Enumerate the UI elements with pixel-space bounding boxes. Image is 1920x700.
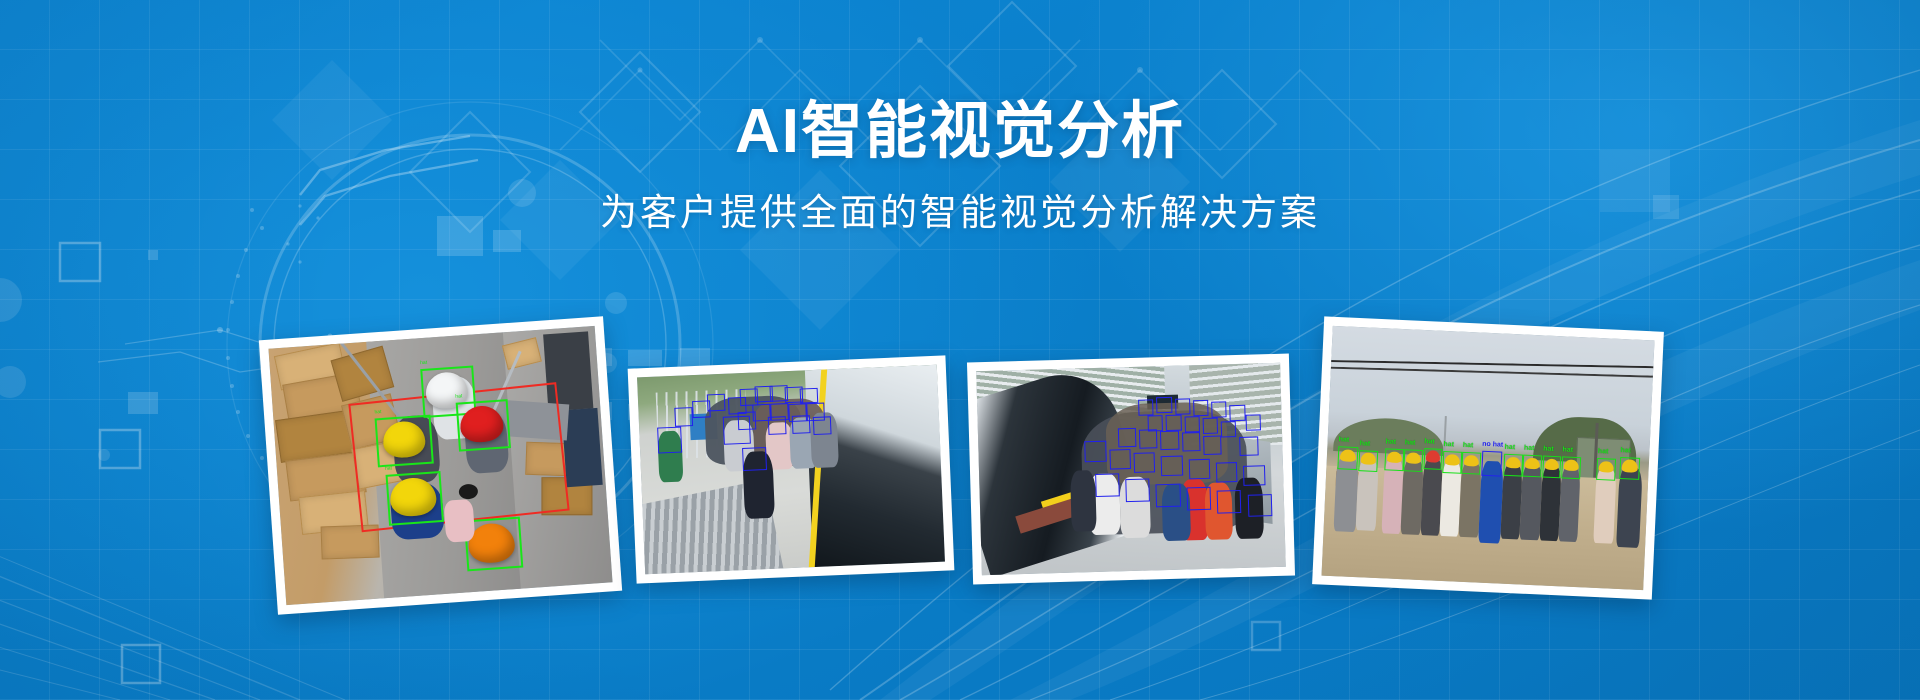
- scene-station: [976, 363, 1286, 575]
- face-box: [1109, 449, 1131, 470]
- face-box: [1156, 484, 1181, 507]
- detection-box: [375, 415, 434, 468]
- scene-platform: [637, 365, 945, 574]
- hat-label: hat: [1562, 446, 1573, 454]
- hat-box: [1384, 448, 1404, 470]
- hat-box: [1503, 454, 1523, 476]
- hat-label: hat: [1598, 448, 1609, 456]
- face-box: [1166, 415, 1182, 432]
- scene-worksite: hat hat hat hat hat: [1321, 326, 1654, 590]
- face-box: [1085, 441, 1107, 462]
- hat-label: hat: [1443, 441, 1454, 449]
- banner-headings: AI智能视觉分析 为客户提供全面的智能视觉分析解决方案: [0, 96, 1920, 236]
- face-box: [1230, 405, 1246, 422]
- face-box: [1211, 401, 1227, 418]
- hat-box: [1442, 451, 1462, 473]
- hat-box: [1423, 448, 1443, 470]
- detection-box: [456, 399, 512, 451]
- face-box: [1193, 399, 1209, 416]
- hat-box: [1597, 458, 1617, 480]
- face-box: [674, 407, 693, 427]
- face-box: [1125, 479, 1150, 502]
- hat-label: hat: [1463, 442, 1474, 450]
- face-box: [1184, 416, 1200, 433]
- hat-label: hat: [1504, 444, 1515, 452]
- face-box: [1134, 452, 1156, 473]
- face-box: [1203, 418, 1219, 435]
- showcase-gallery: hat hat hat hat: [0, 318, 1920, 618]
- hat-label: hat: [1405, 439, 1416, 447]
- gallery-card-station-dense-crowd-detection[interactable]: [967, 354, 1295, 585]
- face-box: [1240, 437, 1259, 456]
- hero-banner: AI智能视觉分析 为客户提供全面的智能视觉分析解决方案: [0, 0, 1920, 700]
- hat-label: hat: [1360, 440, 1371, 448]
- hat-box: [1462, 452, 1482, 474]
- face-box: [1221, 421, 1237, 438]
- hat-label: hat: [1338, 436, 1349, 444]
- photo-station-dense-crowd-detection: [976, 363, 1286, 575]
- face-box: [1156, 396, 1172, 413]
- person-limb: [443, 499, 475, 542]
- face-box: [813, 417, 832, 435]
- face-box: [1188, 459, 1210, 480]
- photo-worksite-hat-detection: hat hat hat hat hat: [1321, 326, 1654, 590]
- hat-label: hat: [1620, 447, 1631, 455]
- face-box: [1216, 462, 1238, 483]
- passenger: [1070, 470, 1096, 532]
- no-hat-box: [1481, 450, 1503, 476]
- photo-platform-crowd-face-detection: [637, 365, 945, 574]
- face-box: [1160, 431, 1179, 450]
- face-box: [1217, 490, 1242, 513]
- face-box: [1247, 494, 1272, 517]
- face-box: [800, 388, 819, 404]
- detection-box: [385, 471, 444, 526]
- face-box: [1118, 428, 1137, 447]
- hat-box: [1523, 455, 1543, 477]
- face-box: [738, 412, 757, 430]
- hat-box: [1358, 450, 1378, 472]
- detection-label: hat: [420, 360, 427, 366]
- carton: [502, 337, 542, 370]
- face-box: [792, 415, 811, 433]
- face-box: [1138, 399, 1154, 416]
- face-box: [1243, 465, 1265, 486]
- hat-label: hat: [1543, 445, 1554, 453]
- face-box: [742, 447, 767, 472]
- face-box: [1203, 436, 1222, 455]
- face-box: [1182, 432, 1201, 451]
- face-box: [1175, 398, 1191, 415]
- gallery-card-warehouse-helmet-detection[interactable]: hat hat hat hat: [259, 316, 622, 614]
- face-box: [1139, 429, 1158, 448]
- page-subtitle: 为客户提供全面的智能视觉分析解决方案: [0, 190, 1920, 236]
- hat-label: hat: [1524, 445, 1535, 453]
- gallery-card-worksite-hat-detection[interactable]: hat hat hat hat hat: [1312, 316, 1664, 599]
- face-box: [768, 416, 787, 434]
- face-box: [1095, 473, 1120, 496]
- detection-label: hat: [455, 393, 462, 399]
- detection-label: hat: [374, 409, 381, 415]
- face-box: [1245, 414, 1261, 431]
- scene-warehouse: hat hat hat hat: [268, 326, 612, 605]
- hat-box: [1542, 455, 1562, 477]
- face-box: [1161, 455, 1183, 476]
- page-title: AI智能视觉分析: [0, 96, 1920, 168]
- hat-box: [1337, 446, 1358, 469]
- face-box: [657, 427, 682, 454]
- hat-box: [1404, 449, 1424, 471]
- hat-box: [1561, 456, 1581, 478]
- no-hat-label: no hat: [1482, 440, 1503, 449]
- face-box: [1186, 487, 1211, 510]
- face-box: [707, 393, 726, 411]
- photo-warehouse-helmet-detection: hat hat hat hat: [268, 326, 612, 605]
- gallery-card-platform-crowd-face-detection[interactable]: [628, 355, 955, 583]
- hat-box: [1619, 456, 1640, 479]
- hat-label: hat: [1385, 438, 1396, 446]
- hat-label: hat: [1424, 438, 1435, 446]
- detection-label: hat: [385, 465, 392, 471]
